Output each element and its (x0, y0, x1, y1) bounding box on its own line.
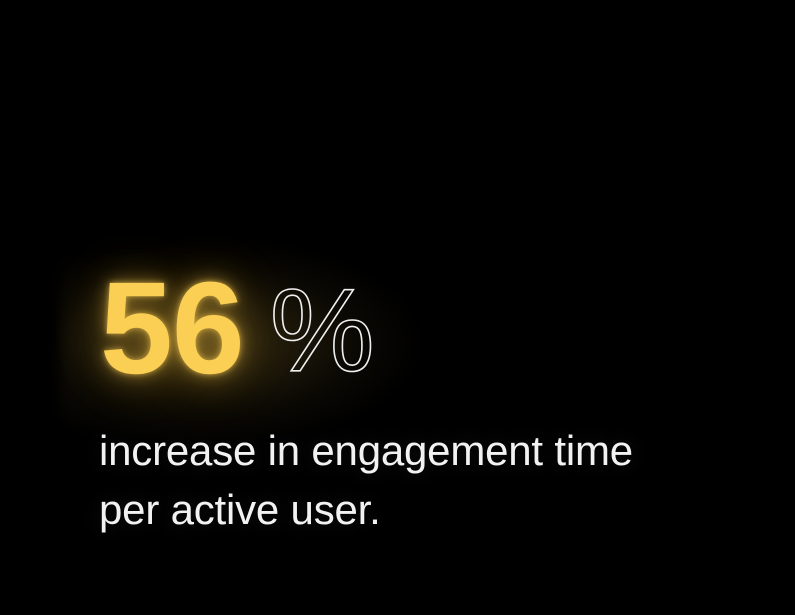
percent-symbol: % (270, 272, 375, 390)
caption-line-1: increase in engagement time (99, 421, 719, 480)
stat-caption: increase in engagement time per active u… (99, 421, 719, 539)
stat-highlight-slide: 56 % increase in engagement time per act… (0, 0, 795, 615)
stat-value: 56 (100, 262, 244, 393)
caption-line-2: per active user. (99, 480, 719, 539)
stat-figure: 56 % (100, 262, 375, 393)
